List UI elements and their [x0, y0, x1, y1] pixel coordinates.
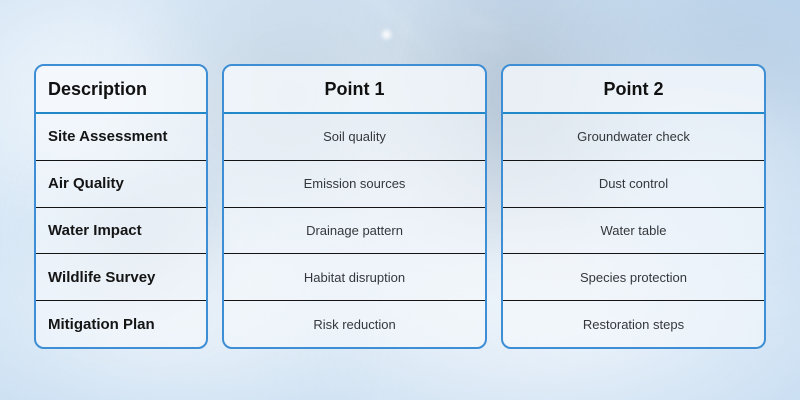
table-cell-point1: Soil quality	[224, 114, 485, 161]
table-cell-description: Site Assessment	[36, 114, 206, 161]
table-cell-point2: Dust control	[503, 161, 764, 208]
table-cell-point2: Species protection	[503, 254, 764, 301]
table-cell-description: Mitigation Plan	[36, 301, 206, 347]
table-cell-description: Water Impact	[36, 208, 206, 255]
column-body-description: Site Assessment Air Quality Water Impact…	[36, 114, 206, 347]
comparison-table: Description Site Assessment Air Quality …	[34, 64, 766, 349]
table-column-point1: Point 1 Soil quality Emission sources Dr…	[222, 64, 487, 349]
table-cell-point1: Emission sources	[224, 161, 485, 208]
column-body-point2: Groundwater check Dust control Water tab…	[503, 114, 764, 347]
column-body-point1: Soil quality Emission sources Drainage p…	[224, 114, 485, 347]
table-cell-point2: Water table	[503, 208, 764, 255]
table-cell-point1: Risk reduction	[224, 301, 485, 347]
table-cell-point1: Habitat disruption	[224, 254, 485, 301]
column-header-description: Description	[36, 66, 206, 114]
column-header-point2: Point 2	[503, 66, 764, 114]
column-header-point1: Point 1	[224, 66, 485, 114]
table-cell-description: Wildlife Survey	[36, 254, 206, 301]
table-column-point2: Point 2 Groundwater check Dust control W…	[501, 64, 766, 349]
table-cell-point1: Drainage pattern	[224, 208, 485, 255]
table-cell-description: Air Quality	[36, 161, 206, 208]
table-cell-point2: Restoration steps	[503, 301, 764, 347]
table-column-description: Description Site Assessment Air Quality …	[34, 64, 208, 349]
table-cell-point2: Groundwater check	[503, 114, 764, 161]
